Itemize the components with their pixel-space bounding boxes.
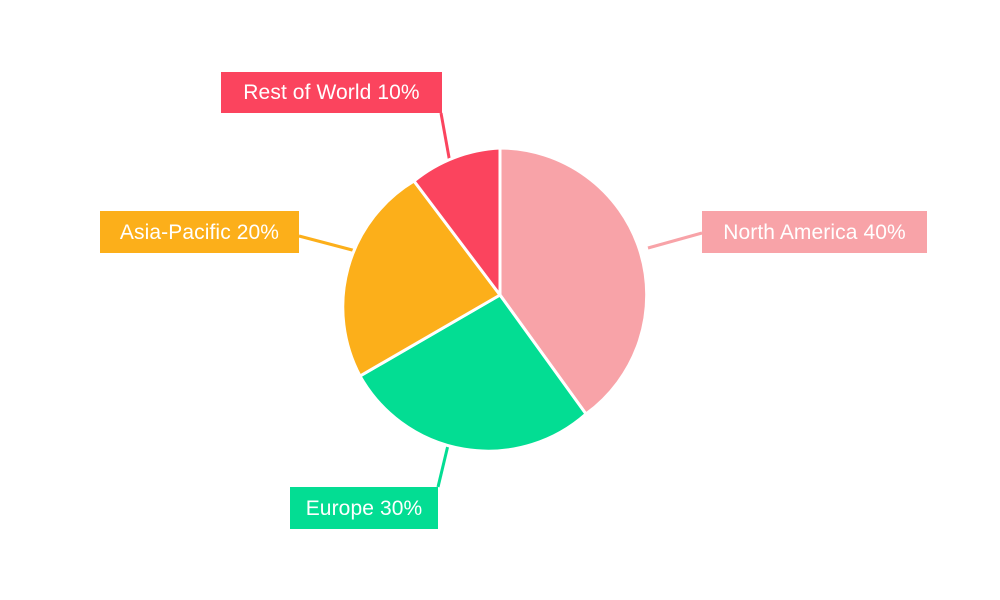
leader-line-north-america	[648, 233, 702, 248]
pie-chart-canvas	[0, 0, 1000, 600]
pie-label-rest-of-world[interactable]: Rest of World 10%	[221, 72, 442, 113]
leader-line-rest-of-world	[441, 113, 450, 163]
pie-label-europe[interactable]: Europe 30%	[290, 487, 438, 529]
pie-label-asia-pacific-text: Asia-Pacific 20%	[120, 222, 279, 243]
pie-label-rest-of-world-text: Rest of World 10%	[243, 82, 419, 103]
leader-line-asia-pacific	[299, 236, 356, 251]
pie-label-north-america[interactable]: North America 40%	[702, 211, 927, 253]
pie-chart: North America 40% Europe 30% Asia-Pacifi…	[0, 0, 1000, 600]
pie-label-europe-text: Europe 30%	[306, 498, 423, 519]
pie-slices	[343, 148, 647, 451]
pie-label-asia-pacific[interactable]: Asia-Pacific 20%	[100, 211, 299, 253]
pie-label-north-america-text: North America 40%	[723, 222, 906, 243]
leader-line-europe	[438, 441, 449, 487]
